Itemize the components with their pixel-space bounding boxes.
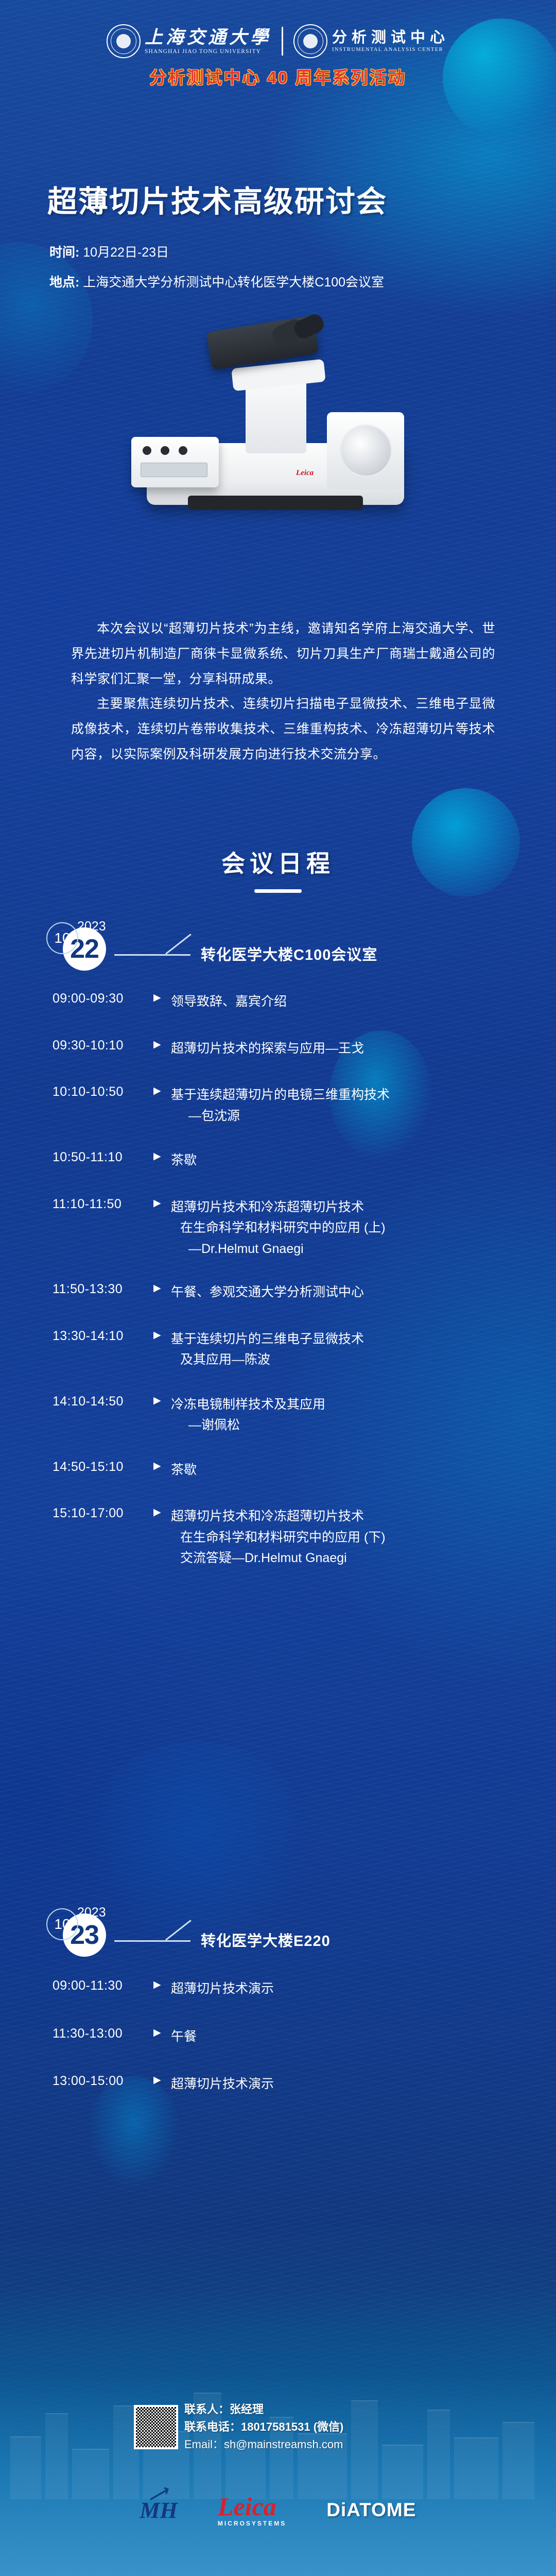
decorative-circle-left: [0, 242, 93, 397]
agenda-line-1: 超薄切片技术的探索与应用—王戈: [171, 1041, 364, 1056]
iac-name-en: INSTRUMENTAL ANALYSIS CENTER: [332, 47, 449, 53]
event-time: 时间: 10月22日-23日: [49, 242, 169, 261]
agenda-time: 14:50-15:10: [53, 1460, 153, 1475]
day-1-venue: 转化医学大楼C100会议室: [201, 943, 377, 964]
agenda-text: 午餐: [171, 2026, 530, 2047]
event-time-value: 10月22日-23日: [83, 245, 169, 260]
intro-paragraph-1: 本次会议以“超薄切片技术”为主线，邀请知名学府上海交通大学、世界先进切片机制造厂…: [71, 616, 495, 691]
page-title: 超薄切片技术高级研讨会: [47, 177, 387, 221]
leica-logo-text: Leica: [218, 2492, 276, 2521]
day-2-year: 2023: [77, 1905, 106, 1920]
agenda-row: 13:30-14:10 ▶ 基于连续切片的三维电子显微技术 及其应用—陈波: [53, 1329, 530, 1370]
day-1-header: 22 10 2023 转化医学大楼C100会议室: [36, 920, 530, 977]
agenda-line-3: 交流答疑—Dr.Helmut Gnaegi: [171, 1548, 530, 1569]
agenda-time: 10:50-11:10: [53, 1150, 153, 1165]
day-2-month-badge: 10: [46, 1908, 78, 1940]
agenda-line-1: 超薄切片技术和冷冻超薄切片技术: [171, 1200, 364, 1214]
day-2-arrow-line: [114, 1940, 190, 1942]
building: [351, 2400, 378, 2499]
agenda-line-1: 基于连续超薄切片的电镜三维重构技术: [171, 1088, 390, 1102]
agenda-line-1: 茶歇: [171, 1153, 197, 1167]
device-handwheel: [340, 425, 392, 477]
device-brand-label: Leica: [296, 469, 314, 478]
day-1-month-number: 10: [54, 930, 70, 946]
sjtu-seal-icon: [107, 24, 141, 58]
device-knob: [143, 446, 151, 455]
triangle-bullet-icon: ▶: [153, 1978, 171, 1992]
schedule-day-1: 22 10 2023 转化医学大楼C100会议室 09:00-09:30 ▶ 领…: [36, 920, 530, 1569]
logo-divider: [282, 27, 283, 56]
contact-phone: 联系电话：18017581531 (微信): [184, 2418, 343, 2436]
agenda-text: 午餐、参观交通大学分析测试中心: [171, 1282, 530, 1303]
day-2-arrow-head-icon: [166, 1920, 193, 1940]
agenda-time: 11:30-13:00: [53, 2026, 153, 2041]
schedule-heading: 会议日程: [0, 845, 556, 893]
event-place-value: 上海交通大学分析测试中心转化医学大楼C100会议室: [83, 275, 384, 290]
agenda-line-2: 在生命科学和材料研究中的应用 (上): [171, 1217, 530, 1239]
leica-logo-subtext: MICROSYSTEMS: [218, 2520, 286, 2527]
iac-name-cn: 分析测试中心: [332, 30, 449, 45]
agenda-text: 超薄切片技术的探索与应用—王戈: [171, 1038, 530, 1059]
triangle-bullet-icon: ▶: [153, 1150, 171, 1163]
sjtu-logo-text: 上海交通大學 SHANGHAI JIAO TONG UNIVERSITY: [145, 28, 271, 55]
leica-logo: Leica MICROSYSTEMS: [218, 2494, 286, 2527]
agenda-time: 11:10-11:50: [53, 1197, 153, 1212]
agenda-line-3: —Dr.Helmut Gnaegi: [171, 1239, 530, 1260]
schedule-heading-underline: [254, 889, 302, 893]
agenda-row: 10:50-11:10 ▶ 茶歇: [53, 1150, 530, 1171]
agenda-time: 11:50-13:30: [53, 1282, 153, 1297]
agenda-row: 15:10-17:00 ▶ 超薄切片技术和冷冻超薄切片技术 在生命科学和材料研究…: [53, 1506, 530, 1569]
agenda-time: 09:00-11:30: [53, 1978, 153, 1993]
agenda-row: 09:30-10:10 ▶ 超薄切片技术的探索与应用—王戈: [53, 1038, 530, 1059]
triangle-bullet-icon: ▶: [153, 2074, 171, 2087]
device-foot: [188, 496, 363, 510]
mh-logo: ⟶ MH: [140, 2497, 178, 2523]
brand-header: 上海交通大學 SHANGHAI JIAO TONG UNIVERSITY 分析测…: [0, 24, 556, 89]
agenda-row: 09:00-11:30 ▶ 超薄切片技术演示: [53, 1978, 530, 1999]
device-display: [141, 463, 207, 477]
contact-email[interactable]: Email：sh@mainstreamsh.com: [184, 2436, 343, 2453]
day-2-month-number: 10: [54, 1916, 70, 1933]
agenda-text: 冷冻电镜制样技术及其应用 —谢佩松: [171, 1394, 530, 1436]
agenda-row: 11:30-13:00 ▶ 午餐: [53, 2026, 530, 2047]
day-1-year: 2023: [77, 919, 106, 934]
event-place: 地点: 上海交通大学分析测试中心转化医学大楼C100会议室: [49, 272, 384, 291]
event-time-label: 时间:: [49, 245, 79, 260]
triangle-bullet-icon: ▶: [153, 991, 171, 1005]
agenda-text: 基于连续切片的三维电子显微技术 及其应用—陈波: [171, 1329, 530, 1370]
anniversary-banner: 分析测试中心 40 周年系列活动: [0, 64, 556, 89]
agenda-line-2: —包沈源: [171, 1106, 530, 1127]
agenda-time: 09:00-09:30: [53, 991, 153, 1006]
agenda-row: 10:10-10:50 ▶ 基于连续超薄切片的电镜三维重构技术 —包沈源: [53, 1084, 530, 1126]
triangle-bullet-icon: ▶: [153, 1394, 171, 1408]
building: [454, 2437, 498, 2499]
agenda-line-1: 领导致辞、嘉宾介绍: [171, 994, 287, 1009]
agenda-line-1: 午餐、参观交通大学分析测试中心: [171, 1285, 364, 1299]
day-1-arrow-head-icon: [166, 934, 193, 954]
anniversary-suffix: 周年系列活动: [296, 68, 407, 87]
triangle-bullet-icon: ▶: [153, 1084, 171, 1098]
anniversary-number: 40: [267, 68, 289, 87]
iac-seal-icon: [293, 24, 327, 58]
agenda-line-1: 冷冻电镜制样技术及其应用: [171, 1397, 325, 1412]
day-2-venue: 转化医学大楼E220: [201, 1929, 331, 1951]
intro-paragraph-2: 主要聚焦连续切片技术、连续切片扫描电子显微技术、三维电子显微成像技术，连续切片卷…: [71, 691, 495, 767]
agenda-row: 13:00-15:00 ▶ 超薄切片技术演示: [53, 2074, 530, 2095]
agenda-text: 茶歇: [171, 1150, 530, 1171]
agenda-line-2: 及其应用—陈波: [171, 1349, 530, 1370]
contact-person: 联系人：张经理: [184, 2401, 343, 2418]
intro-paragraphs: 本次会议以“超薄切片技术”为主线，邀请知名学府上海交通大学、世界先进切片机制造厂…: [71, 616, 495, 767]
agenda-row: 11:50-13:30 ▶ 午餐、参观交通大学分析测试中心: [53, 1282, 530, 1303]
contact-block: 联系人：张经理 联系电话：18017581531 (微信) Email：sh@m…: [184, 2401, 343, 2453]
agenda-text: 超薄切片技术演示: [171, 2074, 530, 2095]
schedule-day-2: 23 10 2023 转化医学大楼E220 09:00-11:30 ▶ 超薄切片…: [36, 1906, 530, 2095]
agenda-row: 11:10-11:50 ▶ 超薄切片技术和冷冻超薄切片技术 在生命科学和材料研究…: [53, 1197, 530, 1260]
agenda-time: 09:30-10:10: [53, 1038, 153, 1053]
agenda-time: 13:00-15:00: [53, 2074, 153, 2089]
agenda-line-1: 基于连续切片的三维电子显微技术: [171, 1332, 364, 1346]
partner-logos: ⟶ MH Leica MICROSYSTEMS DiATOME: [0, 2494, 556, 2527]
schedule-heading-text: 会议日程: [221, 845, 335, 879]
agenda-line-1: 超薄切片技术演示: [171, 1981, 274, 1996]
agenda-line-1: 超薄切片技术和冷冻超薄切片技术: [171, 1509, 364, 1523]
agenda-text: 超薄切片技术和冷冻超薄切片技术 在生命科学和材料研究中的应用 (上) —Dr.H…: [171, 1197, 530, 1260]
agenda-line-2: —谢佩松: [171, 1415, 530, 1436]
device-knob: [179, 446, 187, 455]
device-knob: [161, 446, 169, 455]
triangle-bullet-icon: ▶: [153, 1038, 171, 1052]
agenda-text: 领导致辞、嘉宾介绍: [171, 991, 530, 1012]
logo-row: 上海交通大學 SHANGHAI JIAO TONG UNIVERSITY 分析测…: [0, 24, 556, 58]
agenda-text: 茶歇: [171, 1460, 530, 1481]
building: [382, 2445, 423, 2499]
day-2-header: 23 10 2023 转化医学大楼E220: [36, 1906, 530, 1963]
poster-root: 上海交通大學 SHANGHAI JIAO TONG UNIVERSITY 分析测…: [0, 0, 556, 2576]
building: [45, 2413, 68, 2499]
triangle-bullet-icon: ▶: [153, 2026, 171, 2040]
triangle-bullet-icon: ▶: [153, 1197, 171, 1210]
triangle-bullet-icon: ▶: [153, 1329, 171, 1342]
event-place-label: 地点:: [49, 275, 79, 290]
agenda-line-1: 超薄切片技术演示: [171, 2077, 274, 2091]
agenda-text: 基于连续超薄切片的电镜三维重构技术 —包沈源: [171, 1084, 530, 1126]
device-knobs: [143, 446, 187, 455]
wechat-qr-code[interactable]: [134, 2405, 178, 2449]
triangle-bullet-icon: ▶: [153, 1282, 171, 1295]
sjtu-name-cn: 上海交通大學: [145, 28, 271, 46]
building: [427, 2410, 450, 2499]
agenda-line-1: 午餐: [171, 2029, 197, 2044]
agenda-time: 13:30-14:10: [53, 1329, 153, 1344]
building: [502, 2422, 534, 2499]
diatome-logo: DiATOME: [326, 2499, 416, 2521]
sjtu-name-en: SHANGHAI JIAO TONG UNIVERSITY: [145, 48, 271, 55]
agenda-time: 15:10-17:00: [53, 1506, 153, 1521]
triangle-bullet-icon: ▶: [153, 1460, 171, 1473]
agenda-row: 14:10-14:50 ▶ 冷冻电镜制样技术及其应用 —谢佩松: [53, 1394, 530, 1436]
qr-code-pattern: [136, 2407, 176, 2447]
building: [72, 2449, 109, 2499]
agenda-line-2: 在生命科学和材料研究中的应用 (下): [171, 1527, 530, 1548]
microtome-device-image: Leica: [131, 314, 420, 531]
agenda-row: 09:00-09:30 ▶ 领导致辞、嘉宾介绍: [53, 991, 530, 1012]
device-control-panel: [131, 437, 219, 487]
agenda-time: 14:10-14:50: [53, 1394, 153, 1409]
iac-logo-text: 分析测试中心 INSTRUMENTAL ANALYSIS CENTER: [332, 30, 449, 53]
triangle-bullet-icon: ▶: [153, 1506, 171, 1519]
anniversary-prefix: 分析测试中心: [149, 68, 260, 87]
day-1-month-badge: 10: [46, 922, 78, 954]
agenda-time: 10:10-10:50: [53, 1084, 153, 1099]
agenda-row: 14:50-15:10 ▶ 茶歇: [53, 1460, 530, 1481]
agenda-text: 超薄切片技术和冷冻超薄切片技术 在生命科学和材料研究中的应用 (下) 交流答疑—…: [171, 1506, 530, 1569]
agenda-text: 超薄切片技术演示: [171, 1978, 530, 1999]
day-1-arrow-line: [114, 954, 190, 956]
building: [10, 2436, 41, 2499]
agenda-line-1: 茶歇: [171, 1463, 197, 1477]
